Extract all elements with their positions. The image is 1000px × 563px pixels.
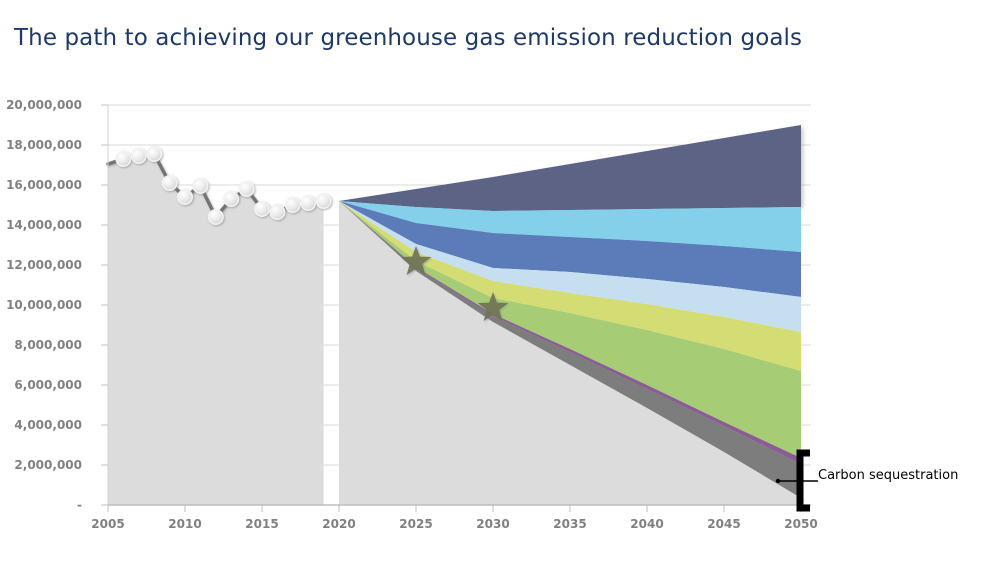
carbon-sequestration-label: Carbon sequestration bbox=[818, 468, 958, 483]
chart-container: The path to achieving our greenhouse gas… bbox=[0, 0, 1000, 563]
